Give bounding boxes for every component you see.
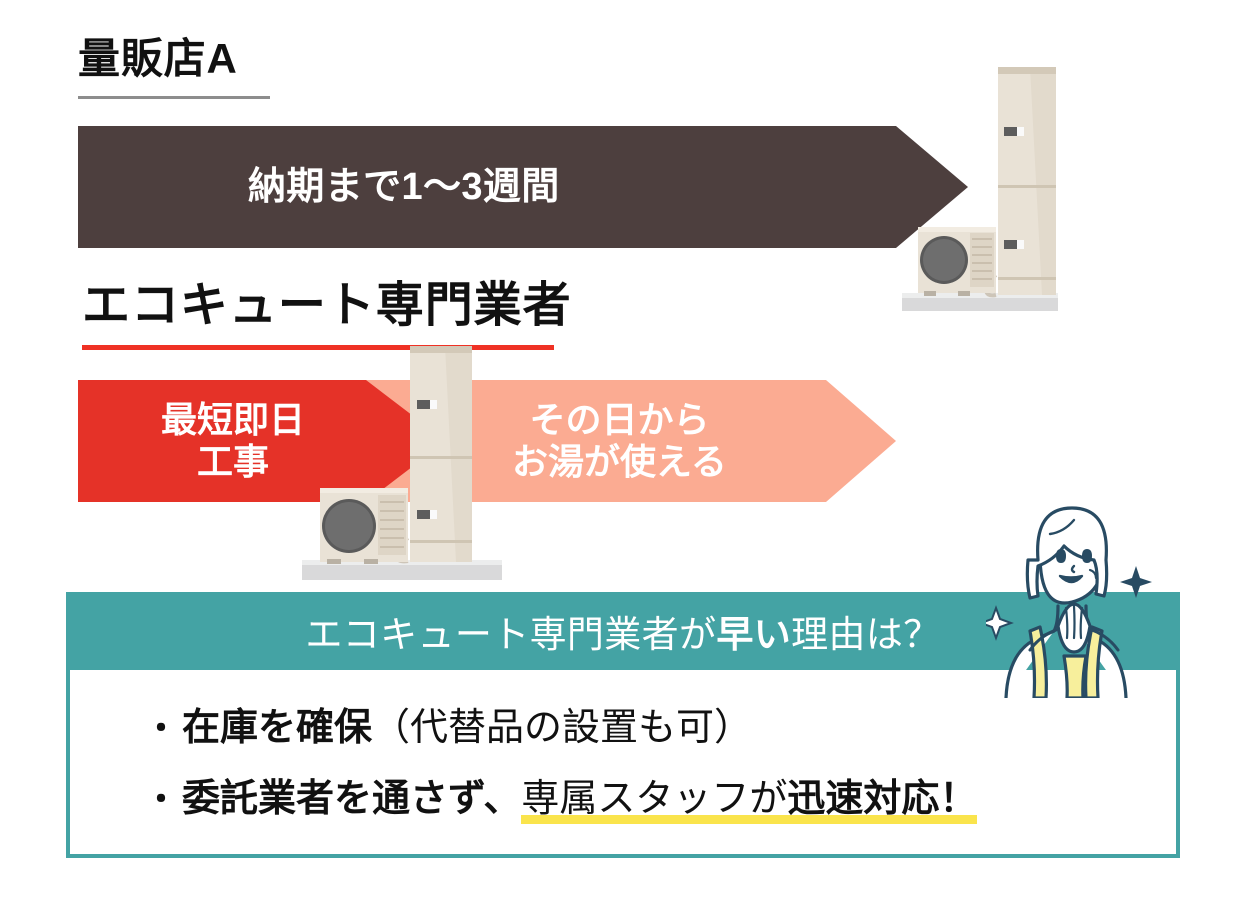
bullet-2-highlight-strong: 迅速対応！ <box>787 767 977 824</box>
bullet-2-highlight-light: 専属スタッフが <box>521 767 787 824</box>
bullet-marker-1: ・ <box>144 712 178 746</box>
bullet-marker-2: ・ <box>144 783 178 817</box>
eco-cute-heater-illustration-top <box>900 55 1060 315</box>
header-text-emphasis: 早い <box>716 614 791 655</box>
reason-list: ・ 在庫を確保 （代替品の設置も可） ・ 委託業者を通さず、 専属スタッフが 迅… <box>66 670 1180 858</box>
bullet-1-strong: 在庫を確保 <box>182 696 372 751</box>
section-title-specialist: エコキュート専門業者 <box>82 282 572 330</box>
smiling-woman-illustration <box>986 498 1186 698</box>
section-title-retailer: 量販店A <box>78 38 238 80</box>
section-underline-retailer <box>78 96 270 99</box>
bullet-1-normal: （代替品の設置も可） <box>372 696 752 751</box>
bullet-2-strong: 委託業者を通さず、 <box>182 767 521 822</box>
infographic-canvas: 量販店A 納期まで1〜3週間 <box>0 0 1240 909</box>
header-text-before: エコキュート専門業者が <box>305 614 716 655</box>
list-item: ・ 委託業者を通さず、 専属スタッフが 迅速対応！ <box>144 767 1180 824</box>
sparkle-icon <box>1120 566 1152 598</box>
eco-cute-heater-illustration-middle <box>300 338 505 583</box>
header-text-after: 理由は？ <box>791 614 940 655</box>
arrow-label-retailer: 納期まで1〜3週間 <box>248 165 560 210</box>
arrow-delivery-time-retailer: 納期まで1〜3週間 <box>78 126 968 248</box>
arrow-label-hot-water: その日から お湯が使える <box>512 399 727 484</box>
reason-panel-header-text: エコキュート専門業者が早い理由は？ <box>305 604 940 658</box>
list-item: ・ 在庫を確保 （代替品の設置も可） <box>144 696 1180 751</box>
